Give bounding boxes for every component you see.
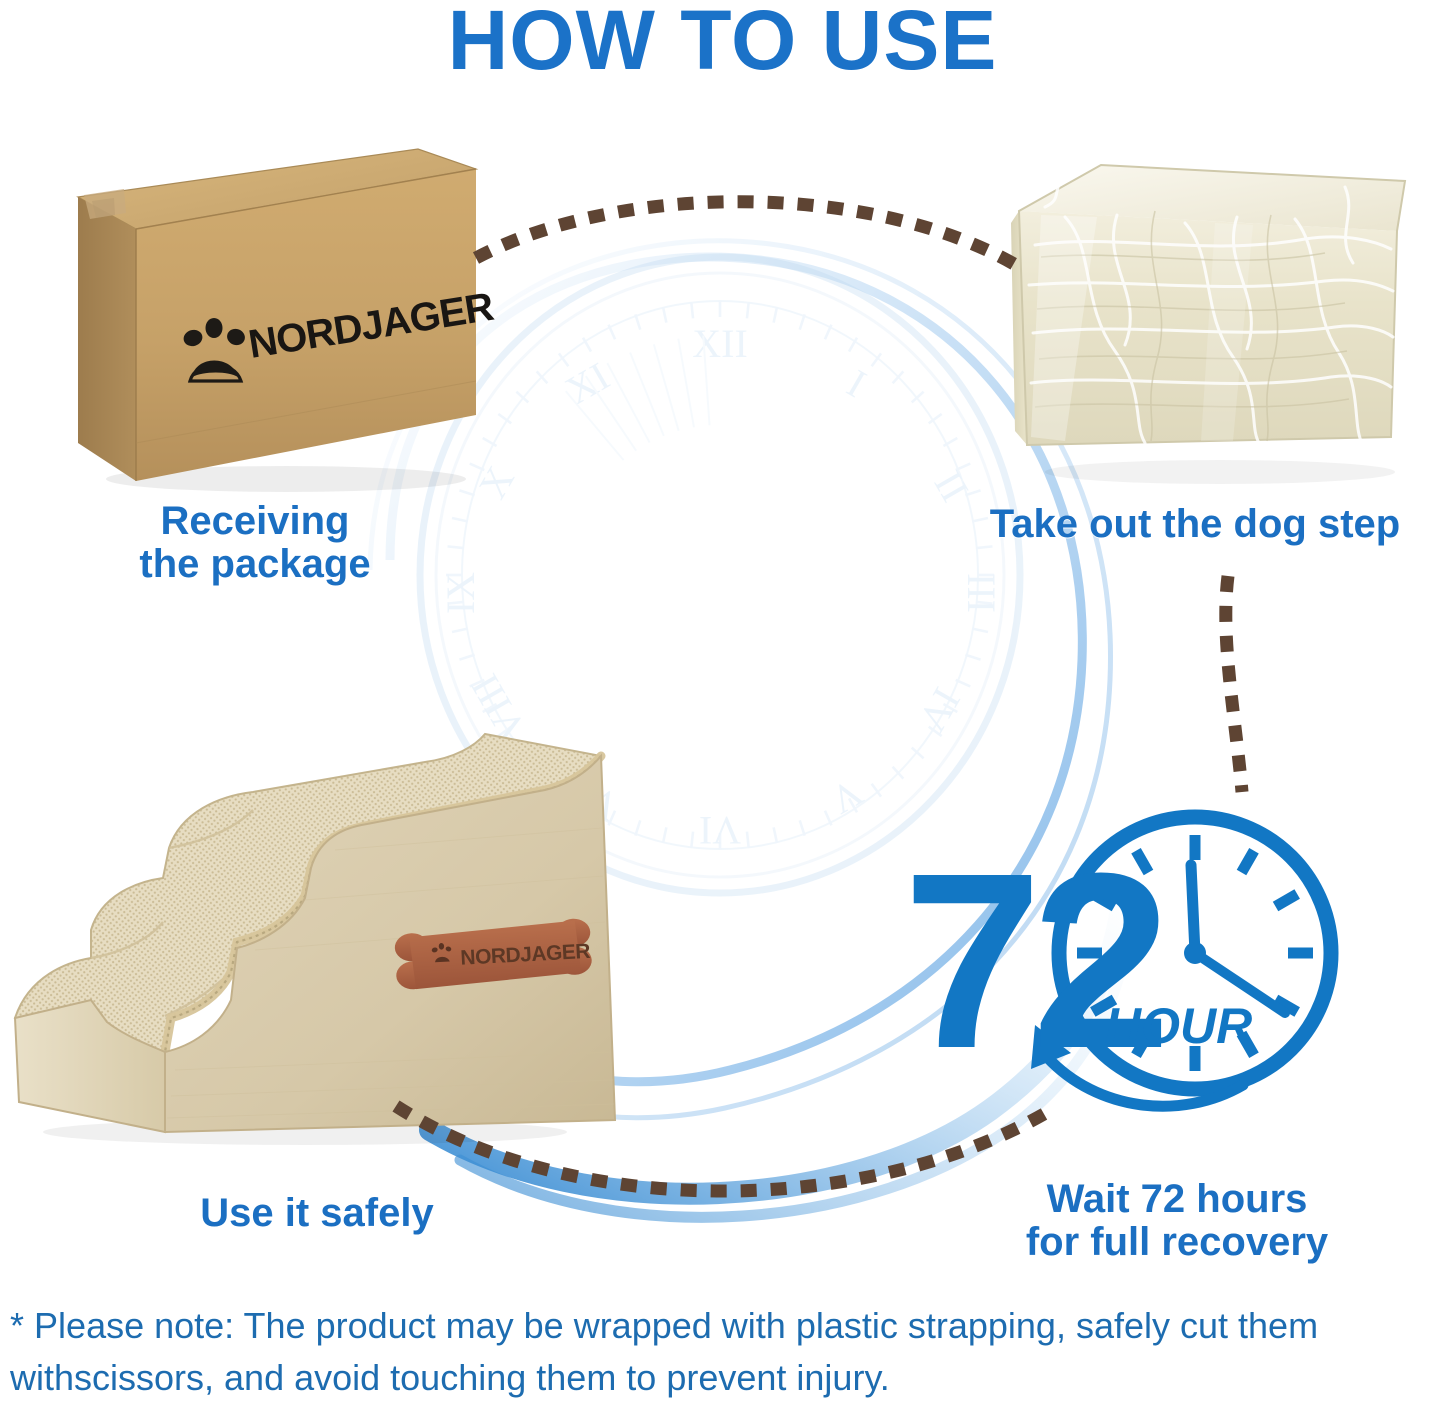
- roman-numeral-V: V: [823, 770, 871, 823]
- caption-line-2: for full recovery: [917, 1221, 1437, 1264]
- caption-line-2: the package: [20, 543, 490, 586]
- footnote-text: Please note: The product may be wrapped …: [10, 1305, 1318, 1398]
- icon-72-hour-clock: 72 HOUR: [895, 785, 1355, 1125]
- clock-unit-hour: HOUR: [1105, 998, 1252, 1054]
- caption-take-out-the-dog-step: Take out the dog step: [945, 503, 1445, 546]
- caption-line-1: Receiving: [20, 500, 490, 543]
- roman-numeral-VI: VI: [699, 808, 741, 853]
- caption-receiving-the-package: Receiving the package: [20, 500, 490, 586]
- page-title: HOW TO USE: [0, 0, 1445, 84]
- dashed-connector-top: [470, 168, 1020, 298]
- footnote: * Please note: The product may be wrappe…: [10, 1300, 1430, 1404]
- clock-hands: [1184, 865, 1285, 1013]
- caption-line-1: Use it safely: [22, 1192, 612, 1235]
- dashed-connector-right: [1180, 570, 1320, 800]
- clock-number-72: 72: [903, 821, 1162, 1100]
- image-plastic-wrapped-pack: [1005, 145, 1425, 490]
- roman-numeral-XII: XII: [692, 321, 748, 366]
- caption-use-it-safely: Use it safely: [22, 1192, 612, 1235]
- caption-line-1: Take out the dog step: [945, 503, 1445, 546]
- roman-numeral-III: III: [959, 573, 1004, 613]
- image-dog-step-stairs: NORDJAGER: [5, 700, 645, 1150]
- roman-numeral-XI: XI: [558, 353, 617, 413]
- caption-line-1: Wait 72 hours: [917, 1178, 1437, 1221]
- roman-numeral-IV: IV: [910, 680, 970, 739]
- roman-numeral-I: I: [840, 360, 874, 406]
- footnote-marker: *: [10, 1305, 24, 1346]
- image-cardboard-box: NORDJAGER: [66, 143, 486, 493]
- caption-wait-72-hours: Wait 72 hours for full recovery: [917, 1178, 1437, 1264]
